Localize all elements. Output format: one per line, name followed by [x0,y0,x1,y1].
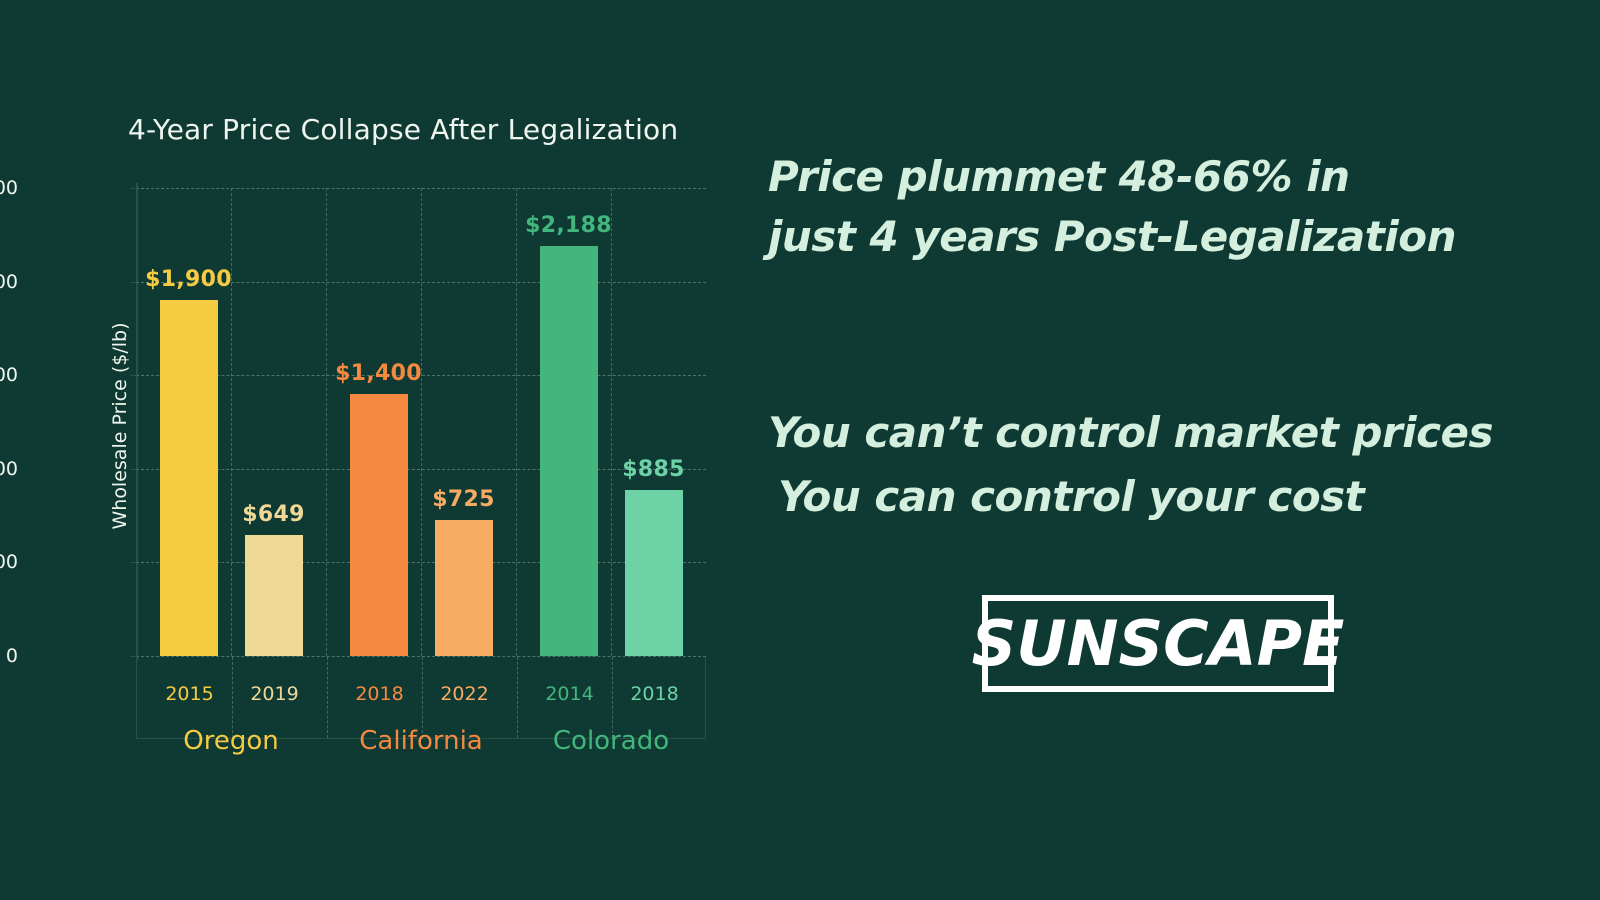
y-axis-label: Wholesale Price ($/lb) [109,266,131,586]
x-tick-year-label: 2018 [355,683,403,705]
y-tick-mark [130,469,137,470]
x-tick-year-label: 2022 [440,683,488,705]
x-tick-year-label: 2015 [165,683,213,705]
y-tick-mark [130,282,137,283]
x-axis-group-label: California [359,726,482,756]
group-separator [516,188,517,656]
bar [160,300,218,656]
bar-value-label: $2,188 [525,213,612,238]
x-tick-year-label: 2014 [545,683,593,705]
bar [245,535,303,656]
y-tick-mark [130,188,137,189]
headline-primary-line1: Price plummet 48-66% in [768,152,1350,201]
bar-separator [611,188,612,656]
bar-value-label: $885 [622,457,684,482]
y-tick-label: 2000 [0,271,18,293]
y-tick-mark [130,375,137,376]
bar-value-label: $1,400 [335,361,422,386]
headline-primary-line2: just 4 years Post-Legalization [768,212,1456,261]
bar-separator [421,188,422,656]
bar-separator [231,188,232,656]
x-tick-year-label: 2019 [250,683,298,705]
brand-logo: SUNSCAPE [982,595,1334,692]
x-tick-year-label: 2018 [630,683,678,705]
bar-value-label: $649 [242,502,304,527]
bar [350,394,408,656]
y-tick-label: 0 [6,645,18,667]
chart-title: 4-Year Price Collapse After Legalization [128,113,728,146]
x-axis-group-label: Oregon [183,726,278,756]
chart-panel: 4-Year Price Collapse After Legalization… [0,0,760,900]
y-tick-label: 1000 [0,458,18,480]
bar [435,520,493,656]
x-axis-group-label: Colorado [553,726,669,756]
infographic-canvas: 4-Year Price Collapse After Legalization… [0,0,1600,900]
y-tick-label: 500 [0,551,18,573]
year-band-separator [517,657,518,738]
headline-secondary-line2: You can control your cost [778,472,1364,521]
headline-secondary-line1: You can’t control market prices [768,408,1493,457]
year-band-separator [327,657,328,738]
bar [540,246,598,656]
y-tick-mark [130,562,137,563]
message-panel: Price plummet 48-66% in just 4 years Pos… [760,0,1600,900]
group-separator [326,188,327,656]
bar-value-label: $725 [432,487,494,512]
y-tick-label: 2500 [0,177,18,199]
bar [625,490,683,656]
plot-area: $1,900$649$1,400$725$2,188$885 [136,188,706,656]
y-tick-label: 1500 [0,364,18,386]
bar-value-label: $1,900 [145,267,232,292]
brand-logo-text: SUNSCAPE [972,613,1345,675]
